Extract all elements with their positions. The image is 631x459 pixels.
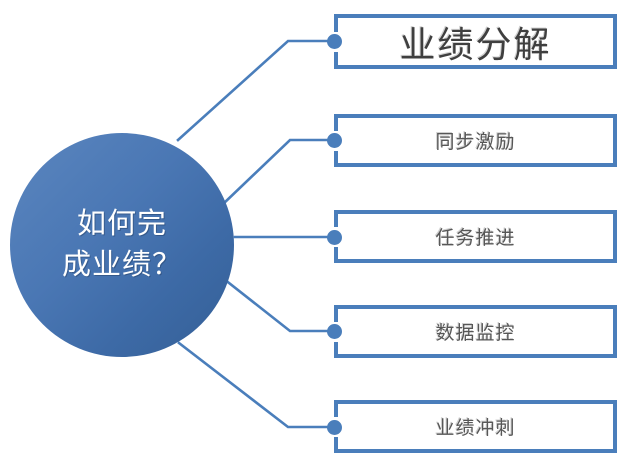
connector-line-4 [224,279,332,331]
branch-box-1[interactable]: 业绩分解 [334,14,617,69]
branch-bullet-3[interactable] [327,230,342,245]
branch-box-3[interactable]: 任务推进 [334,210,617,263]
branch-label-2: 同步激励 [435,127,515,154]
branch-box-5[interactable]: 业绩冲刺 [334,400,617,453]
branch-label-4: 数据监控 [435,318,515,345]
branch-label-5: 业绩冲刺 [435,413,515,440]
center-node-label: 如何完 成业绩？ [47,204,197,286]
connector-line-2 [222,140,332,205]
connector-line-5 [179,343,332,427]
connector-line-1 [178,41,332,140]
branch-label-1: 业绩分解 [399,16,551,68]
branch-bullet-5[interactable] [327,420,342,435]
branch-box-2[interactable]: 同步激励 [334,114,617,167]
center-node[interactable]: 如何完 成业绩？ [10,133,234,357]
branch-bullet-1[interactable] [327,34,342,49]
branch-box-4[interactable]: 数据监控 [334,305,617,358]
diagram-canvas: 如何完 成业绩？ 业绩分解 同步激励 任务推进 数据监控 业绩冲刺 [0,0,631,459]
branch-bullet-2[interactable] [327,133,342,148]
branch-bullet-4[interactable] [327,324,342,339]
branch-label-3: 任务推进 [435,223,515,250]
